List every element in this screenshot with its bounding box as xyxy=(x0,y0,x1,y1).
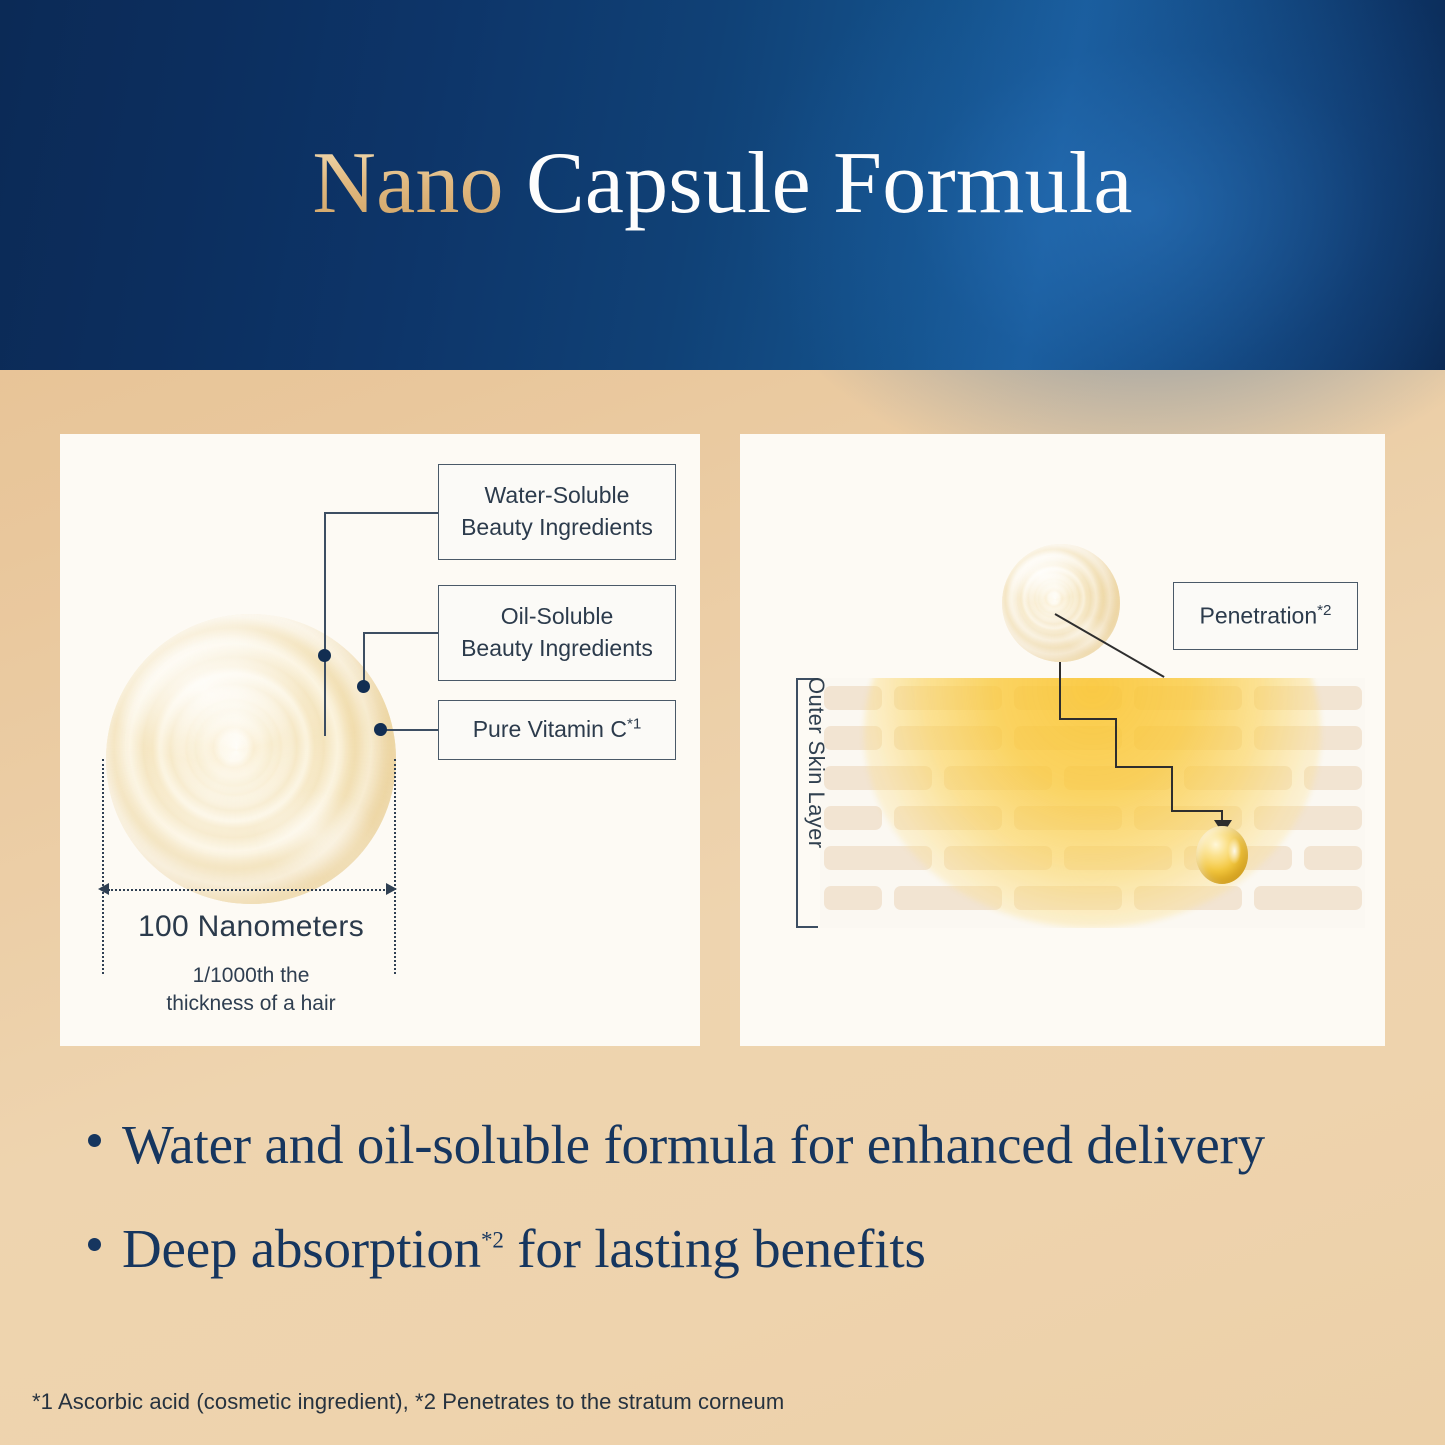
bullet-point-2-text-a: Deep absorption xyxy=(122,1218,481,1279)
path-segment-5 xyxy=(1171,766,1173,812)
dimension-subtext: 1/1000th the thickness of a hair xyxy=(106,962,396,1018)
dimension-value: 100 Nanometers xyxy=(106,910,396,944)
title-word-nano: Nano xyxy=(312,135,503,232)
path-segment-6 xyxy=(1171,810,1223,812)
path-segment-3 xyxy=(1115,718,1117,768)
outer-skin-layer-label: Outer Skin Layer xyxy=(803,677,829,817)
dimension-arrow-left xyxy=(98,883,109,895)
label-penetration-text: Penetration*2 xyxy=(1200,602,1332,630)
bullet-marker-icon xyxy=(88,1238,101,1251)
nano-capsule-small-illustration xyxy=(1002,544,1120,662)
skin-layer-illustration xyxy=(820,678,1365,928)
absorbed-droplet xyxy=(1196,826,1248,884)
footnote-text: *1 Ascorbic acid (cosmetic ingredient), … xyxy=(32,1389,784,1415)
leader-water-vertical xyxy=(324,656,326,736)
label-oil-soluble-text: Oil-Soluble Beauty Ingredients xyxy=(461,601,653,664)
leader-vitc-horizontal xyxy=(380,729,440,731)
dimension-measure-line xyxy=(108,889,388,891)
label-water-soluble[interactable]: Water-Soluble Beauty Ingredients xyxy=(438,464,676,560)
leader-dot-oil xyxy=(357,680,370,693)
bullet-marker-icon xyxy=(88,1134,101,1147)
leader-water-riser xyxy=(324,512,326,658)
dimension-arrow-right xyxy=(386,883,397,895)
leader-dot-water xyxy=(318,649,331,662)
path-segment-1 xyxy=(1059,662,1061,720)
page-title: Nano Capsule Formula xyxy=(0,140,1445,228)
bullet-point-2: Deep absorption*2 for lasting benefits xyxy=(88,1217,926,1280)
header-banner: Nano Capsule Formula xyxy=(0,0,1445,370)
header-glow xyxy=(751,0,1445,488)
label-water-soluble-text: Water-Soluble Beauty Ingredients xyxy=(461,480,653,543)
dimension-guide-left xyxy=(102,759,104,974)
label-penetration[interactable]: Penetration*2 xyxy=(1173,582,1358,650)
bullet-point-1-text: Water and oil-soluble formula for enhanc… xyxy=(122,1114,1265,1175)
footnote-marker-2b: *2 xyxy=(481,1227,504,1253)
infographic-page: Nano Capsule Formula Water-Soluble Beaut… xyxy=(0,0,1445,1445)
leader-oil-horizontal xyxy=(363,632,439,634)
footnote-marker-1: *1 xyxy=(627,715,641,732)
path-segment-2 xyxy=(1059,718,1117,720)
label-pure-vitamin-c[interactable]: Pure Vitamin C*1 xyxy=(438,700,676,760)
leader-dot-vitc xyxy=(374,723,387,736)
leader-water-horizontal xyxy=(324,512,439,514)
capsule-structure-panel: Water-Soluble Beauty Ingredients Oil-Sol… xyxy=(60,434,700,1046)
footnote-marker-2: *2 xyxy=(1317,602,1331,619)
leader-oil-vertical xyxy=(363,632,365,686)
title-spacer xyxy=(504,135,526,232)
label-pure-vitamin-c-text: Pure Vitamin C*1 xyxy=(473,714,642,746)
label-oil-soluble[interactable]: Oil-Soluble Beauty Ingredients xyxy=(438,585,676,681)
bullet-point-2-text-b: for lasting benefits xyxy=(504,1218,926,1279)
title-word-capsule-formula: Capsule Formula xyxy=(526,135,1133,232)
path-segment-4 xyxy=(1115,766,1173,768)
penetration-panel: Outer Skin Layer Penetration*2 xyxy=(740,434,1385,1046)
bullet-point-1: Water and oil-soluble formula for enhanc… xyxy=(88,1113,1265,1176)
nano-capsule-illustration xyxy=(106,614,396,904)
